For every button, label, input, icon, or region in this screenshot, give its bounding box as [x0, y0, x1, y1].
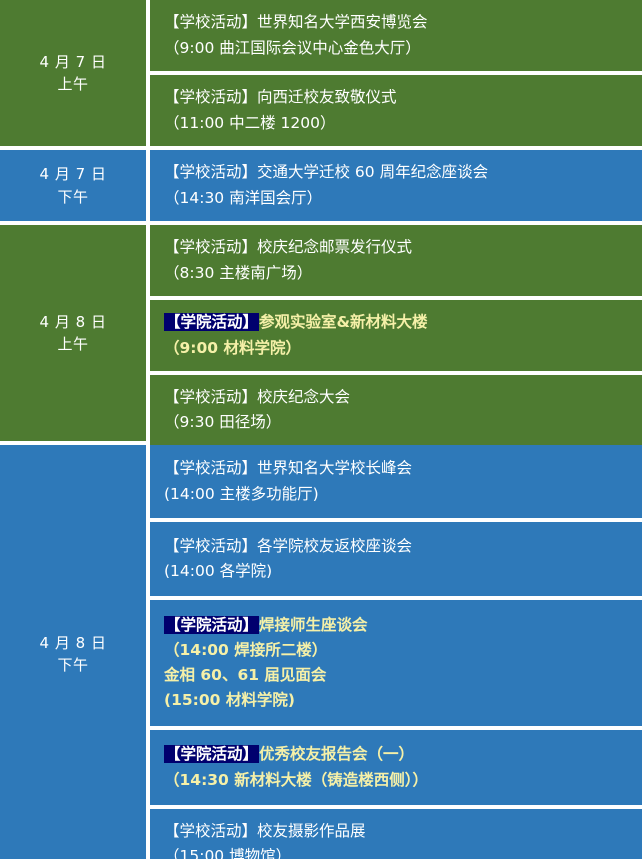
event-line: (15:00 材料学院) [164, 688, 630, 713]
event-line: 【学校活动】校庆纪念邮票发行仪式 [164, 235, 630, 260]
date-cell: 4 月 7 日下午 [0, 150, 146, 221]
event-line: 【学院活动】优秀校友报告会（一） [164, 742, 630, 767]
event-line: (14:00 主楼多功能厅) [164, 482, 630, 507]
event-line: （9:30 田径场） [164, 410, 630, 435]
event-line: （14:30 南洋国会厅） [164, 186, 630, 211]
event-line: 【学院活动】焊接师生座谈会 [164, 613, 630, 638]
event-line: 【学校活动】各学院校友返校座谈会 [164, 534, 630, 559]
college-event-cell[interactable]: 【学院活动】焊接师生座谈会（14:00 焊接所二楼）金相 60、61 届见面会(… [150, 600, 642, 726]
schedule-block: 4 月 7 日上午【学校活动】世界知名大学西安博览会（9:00 曲江国际会议中心… [0, 0, 642, 146]
college-event-cell[interactable]: 【学院活动】优秀校友报告会（一）（14:30 新材料大楼（铸造楼西侧）） [150, 730, 642, 805]
event-line: 【学校活动】校友摄影作品展 [164, 819, 630, 844]
event-line: 【学校活动】世界知名大学西安博览会 [164, 10, 630, 35]
events-column: 【学校活动】世界知名大学西安博览会（9:00 曲江国际会议中心金色大厅）【学校活… [150, 0, 642, 146]
event-line: （8:30 主楼南广场） [164, 261, 630, 286]
school-event-cell[interactable]: 【学校活动】各学院校友返校座谈会(14:00 各学院) [150, 522, 642, 596]
event-line: 【学校活动】向西迁校友致敬仪式 [164, 85, 630, 110]
events-column: 【学校活动】交通大学迁校 60 周年纪念座谈会（14:30 南洋国会厅） [150, 150, 642, 221]
date-line: 4 月 7 日 [40, 51, 107, 74]
date-cell: 4 月 7 日上午 [0, 0, 146, 146]
event-line: (14:00 各学院) [164, 559, 630, 584]
event-line: （15:00 博物馆） [164, 844, 630, 859]
date-cell: 4 月 8 日上午 [0, 225, 146, 441]
college-activity-tag: 【学院活动】 [164, 313, 259, 331]
school-event-cell[interactable]: 【学校活动】交通大学迁校 60 周年纪念座谈会（14:30 南洋国会厅） [150, 150, 642, 221]
schedule-block: 4 月 8 日下午【学校活动】世界知名大学校长峰会(14:00 主楼多功能厅)【… [0, 445, 642, 859]
date-line: 下午 [57, 654, 88, 677]
event-line: 金相 60、61 届见面会 [164, 663, 630, 688]
events-column: 【学校活动】校庆纪念邮票发行仪式（8:30 主楼南广场）【学院活动】参观实验室&… [150, 225, 642, 441]
school-event-cell[interactable]: 【学校活动】校庆纪念大会（9:30 田径场） [150, 375, 642, 445]
college-activity-tag: 【学院活动】 [164, 745, 259, 763]
school-event-cell[interactable]: 【学校活动】世界知名大学西安博览会（9:00 曲江国际会议中心金色大厅） [150, 0, 642, 71]
schedule-block: 4 月 8 日上午【学校活动】校庆纪念邮票发行仪式（8:30 主楼南广场）【学院… [0, 225, 642, 441]
date-line: 下午 [57, 186, 88, 209]
school-event-cell[interactable]: 【学校活动】校庆纪念邮票发行仪式（8:30 主楼南广场） [150, 225, 642, 296]
school-event-cell[interactable]: 【学校活动】向西迁校友致敬仪式（11:00 中二楼 1200） [150, 75, 642, 146]
date-line: 4 月 8 日 [40, 632, 107, 655]
event-line: （9:00 曲江国际会议中心金色大厅） [164, 36, 630, 61]
school-event-cell[interactable]: 【学校活动】世界知名大学校长峰会(14:00 主楼多功能厅) [150, 445, 642, 518]
event-line: （9:00 材料学院） [164, 336, 630, 361]
date-cell: 4 月 8 日下午 [0, 445, 146, 859]
event-line: 【学校活动】世界知名大学校长峰会 [164, 456, 630, 481]
events-column: 【学校活动】世界知名大学校长峰会(14:00 主楼多功能厅)【学校活动】各学院校… [150, 445, 642, 859]
school-event-cell[interactable]: 【学校活动】校友摄影作品展（15:00 博物馆） [150, 809, 642, 859]
event-line-text: 参观实验室&新材料大楼 [259, 313, 428, 331]
date-line: 4 月 7 日 [40, 163, 107, 186]
event-line: （11:00 中二楼 1200） [164, 111, 630, 136]
event-line-text: 优秀校友报告会（一） [259, 745, 414, 763]
schedule-table: 4 月 7 日上午【学校活动】世界知名大学西安博览会（9:00 曲江国际会议中心… [0, 0, 642, 859]
event-line: （14:00 焊接所二楼） [164, 638, 630, 663]
event-line-text: 焊接师生座谈会 [259, 616, 368, 634]
college-activity-tag: 【学院活动】 [164, 616, 259, 634]
date-line: 上午 [57, 333, 88, 356]
college-event-cell[interactable]: 【学院活动】参观实验室&新材料大楼（9:00 材料学院） [150, 300, 642, 371]
date-line: 4 月 8 日 [40, 311, 107, 334]
event-line: 【学校活动】校庆纪念大会 [164, 385, 630, 410]
schedule-block: 4 月 7 日下午【学校活动】交通大学迁校 60 周年纪念座谈会（14:30 南… [0, 150, 642, 221]
date-line: 上午 [57, 73, 88, 96]
event-line: 【学院活动】参观实验室&新材料大楼 [164, 310, 630, 335]
event-line: （14:30 新材料大楼（铸造楼西侧）） [164, 768, 630, 793]
event-line: 【学校活动】交通大学迁校 60 周年纪念座谈会 [164, 160, 630, 185]
